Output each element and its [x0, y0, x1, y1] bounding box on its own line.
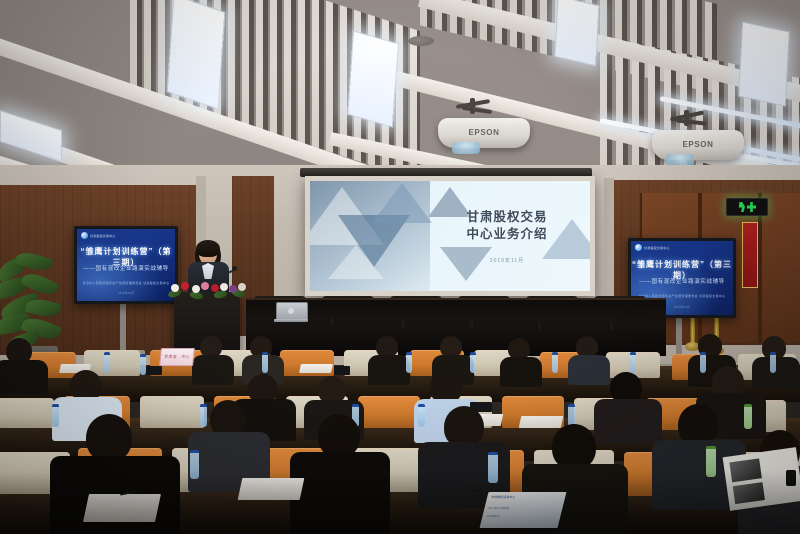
triangle-shape-icon	[328, 245, 384, 279]
booklet-line-2: 2019年11月	[486, 514, 501, 518]
desk-microphone	[330, 318, 333, 326]
water-bottle	[706, 446, 716, 477]
water-bottle	[770, 352, 776, 373]
floral-arrangement	[168, 282, 248, 300]
notepaper	[519, 416, 564, 428]
display-footer-date: 2019年11月	[77, 291, 175, 295]
tablet-device[interactable]	[146, 366, 162, 375]
water-bottle	[52, 404, 59, 427]
logo-text: 甘肃股权交易中心	[90, 234, 116, 238]
projector-brand-label: EPSON	[438, 128, 530, 137]
delegate-handout-booklet[interactable]: 甘肃股权交易中心 中心业务介绍手册 2019年11月	[480, 492, 567, 528]
water-bottle	[470, 352, 476, 373]
projector-brand-label: EPSON	[652, 140, 744, 149]
water-bottle	[190, 450, 199, 479]
laptop-base	[274, 319, 308, 322]
logo-text: 甘肃股权交易中心	[644, 246, 670, 250]
display-footer: 甘肃省人民政府国有资产监督管理委员会 甘肃股权交易中心	[77, 281, 175, 285]
ceiling-panel-light	[347, 30, 399, 127]
notepaper	[238, 478, 305, 500]
running-man-icon	[738, 202, 745, 212]
conference-room-photo: EPSON EPSON	[0, 0, 800, 534]
audience-chair[interactable]	[0, 398, 54, 428]
ceiling-vent	[408, 36, 434, 46]
display-subtitle: ——国有混改企业路演实战辅导	[631, 277, 733, 285]
water-bottle	[630, 352, 636, 373]
apple-logo-icon	[288, 308, 294, 314]
booklet-line-1: 中心业务介绍手册	[488, 506, 510, 510]
logo-mark-icon	[635, 244, 642, 251]
projector-lens	[452, 142, 480, 154]
slide-date: 2019年11月	[432, 257, 582, 264]
projected-slide: 甘肃股权交易 中心业务介绍 2019年11月	[310, 181, 590, 291]
water-bottle	[104, 352, 110, 373]
audience-chair[interactable]	[140, 396, 204, 428]
presenter-hair	[196, 240, 220, 257]
placard-text: 甘肃省…中心	[164, 354, 190, 360]
left-wall-display: 甘肃股权交易中心 “雏鹰计划训练营”（第三期） ——国有混改企业路演实战辅导 甘…	[74, 226, 178, 304]
slide-graphic-panel	[310, 181, 430, 291]
notepaper	[83, 494, 161, 522]
desk-microphone	[402, 320, 405, 328]
exit-cross-icon	[747, 202, 756, 212]
ceiling-panel-light	[738, 21, 790, 106]
triangle-shape-icon	[372, 183, 432, 223]
desk-microphone	[538, 322, 541, 330]
logo-mark-icon	[81, 232, 88, 239]
triangle-shape-icon	[440, 247, 492, 281]
water-bottle	[200, 404, 207, 427]
microphone-icon	[232, 266, 237, 271]
audience-chair[interactable]	[358, 396, 420, 428]
water-bottle	[744, 404, 752, 429]
water-bottle	[488, 452, 498, 483]
organization-logo: 甘肃股权交易中心	[635, 244, 670, 251]
slide-title-line-1: 甘肃股权交易	[432, 209, 582, 226]
tablet-device[interactable]	[334, 366, 350, 375]
slide-title-line-2: 中心业务介绍	[432, 226, 582, 243]
notepaper	[299, 364, 333, 373]
emergency-exit-sign	[726, 198, 768, 216]
water-bottle	[418, 404, 425, 427]
water-bottle	[700, 352, 706, 373]
main-projection-screen: 甘肃股权交易 中心业务介绍 2019年11月	[305, 176, 595, 296]
booklet-logo-text: 甘肃股权交易中心	[491, 495, 516, 499]
display-subtitle: ——国有混改企业路演实战辅导	[77, 264, 175, 272]
mobile-phone[interactable]	[786, 470, 796, 486]
organization-logo: 甘肃股权交易中心	[81, 232, 116, 239]
tv-stand-pole	[120, 298, 126, 350]
laptop-macbook[interactable]	[276, 302, 306, 323]
ceiling-panel-light	[554, 0, 599, 66]
water-bottle	[262, 352, 268, 373]
water-bottle	[552, 352, 558, 373]
wall-banner	[742, 222, 758, 288]
desk-microphone	[470, 320, 473, 328]
desk-name-placard: 甘肃省…中心	[159, 348, 195, 366]
water-bottle	[406, 352, 412, 373]
left-display-slide: 甘肃股权交易中心 “雏鹰计划训练营”（第三期） ——国有混改企业路演实战辅导 甘…	[77, 229, 175, 301]
slide-title: 甘肃股权交易 中心业务介绍	[432, 209, 582, 243]
ceiling-panel-light	[167, 0, 226, 110]
desk-microphone	[610, 322, 613, 330]
